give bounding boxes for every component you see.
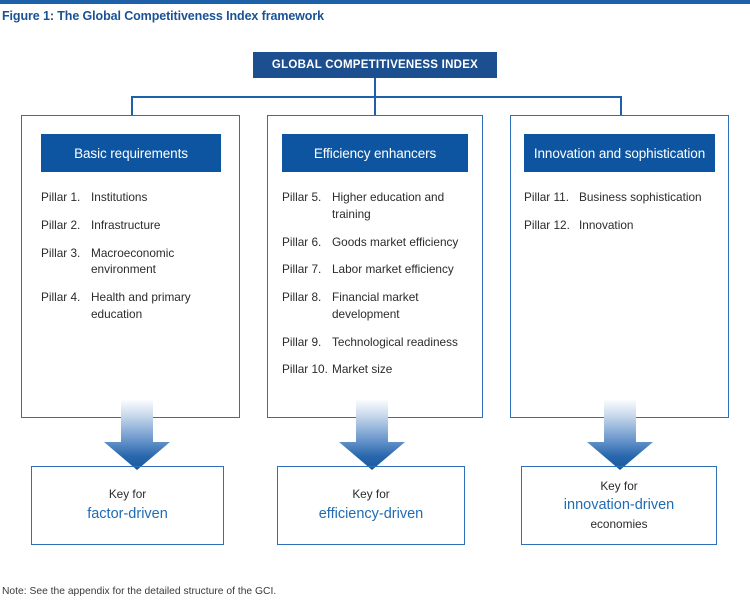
pillar-panel-basic-requirements: Basic requirements Pillar 1. Institution… — [21, 115, 240, 418]
pillar-label: Institutions — [91, 189, 231, 206]
pillar-item: Pillar 1. Institutions — [41, 189, 231, 206]
pillar-number: Pillar 2. — [41, 217, 91, 234]
key-box-efficiency-driven: Key for efficiency-driven — [277, 466, 465, 545]
figure-container: Figure 1: The Global Competitiveness Ind… — [0, 0, 750, 600]
pillar-label: Macroeconomic environment — [91, 245, 231, 279]
pillar-number: Pillar 10. — [282, 361, 332, 378]
pillar-number: Pillar 7. — [282, 261, 332, 278]
global-competitiveness-index-box: GLOBAL COMPETITIVENESS INDEX — [253, 52, 497, 78]
pillar-label: Market size — [332, 361, 474, 378]
pillar-number: Pillar 12. — [524, 217, 579, 234]
panel-header-efficiency-enhancers: Efficiency enhancers — [282, 134, 468, 172]
pillar-number: Pillar 1. — [41, 189, 91, 206]
key-box-innovation-driven: Key for innovation-driven economies — [521, 466, 717, 545]
down-arrow-icon — [101, 400, 173, 472]
pillar-number: Pillar 11. — [524, 189, 579, 206]
pillar-item: Pillar 11. Business sophistication — [524, 189, 720, 206]
connector-horizontal-bar — [131, 96, 622, 98]
key-line-driver: factor-driven — [87, 504, 168, 525]
top-rule-divider — [0, 0, 750, 4]
panel-header-basic-requirements: Basic requirements — [41, 134, 221, 172]
panel-header-label: Efficiency enhancers — [314, 146, 436, 161]
key-line-suffix: economies — [590, 516, 647, 533]
pillar-list-efficiency-enhancers: Pillar 5. Higher education and training … — [282, 189, 474, 389]
key-line-prefix: Key for — [600, 478, 637, 496]
key-line-prefix: Key for — [109, 486, 146, 504]
pillar-label: Higher education and training — [332, 189, 474, 223]
pillar-number: Pillar 8. — [282, 289, 332, 306]
pillar-label: Infrastructure — [91, 217, 231, 234]
panel-header-innovation-and-sophistication: Innovation and sophistication — [524, 134, 715, 172]
pillar-list-basic-requirements: Pillar 1. Institutions Pillar 2. Infrast… — [41, 189, 231, 334]
connector-vertical-master — [374, 78, 376, 98]
key-line-prefix: Key for — [352, 486, 389, 504]
pillar-list-innovation-and-sophistication: Pillar 11. Business sophistication Pilla… — [524, 189, 720, 245]
pillar-label: Labor market efficiency — [332, 261, 474, 278]
figure-note: Note: See the appendix for the detailed … — [2, 586, 276, 597]
pillar-label: Innovation — [579, 217, 720, 234]
pillar-item: Pillar 7. Labor market efficiency — [282, 261, 474, 278]
pillar-label: Financial market development — [332, 289, 474, 323]
figure-title: Figure 1: The Global Competitiveness Ind… — [2, 9, 324, 23]
pillar-label: Technological readiness — [332, 334, 474, 351]
global-competitiveness-index-label: GLOBAL COMPETITIVENESS INDEX — [272, 59, 478, 71]
pillar-item: Pillar 3. Macroeconomic environment — [41, 245, 231, 279]
pillar-item: Pillar 6. Goods market efficiency — [282, 234, 474, 251]
pillar-panel-efficiency-enhancers: Efficiency enhancers Pillar 5. Higher ed… — [267, 115, 483, 418]
pillar-number: Pillar 4. — [41, 289, 91, 306]
pillar-number: Pillar 9. — [282, 334, 332, 351]
pillar-item: Pillar 8. Financial market development — [282, 289, 474, 323]
connector-vertical-center — [374, 96, 376, 116]
pillar-item: Pillar 10. Market size — [282, 361, 474, 378]
pillar-item: Pillar 12. Innovation — [524, 217, 720, 234]
pillar-number: Pillar 3. — [41, 245, 91, 262]
panel-header-label: Basic requirements — [74, 146, 188, 161]
pillar-label: Business sophistication — [579, 189, 720, 206]
pillar-number: Pillar 6. — [282, 234, 332, 251]
key-line-driver: efficiency-driven — [319, 504, 424, 525]
pillar-item: Pillar 9. Technological readiness — [282, 334, 474, 351]
pillar-label: Goods market efficiency — [332, 234, 474, 251]
pillar-item: Pillar 4. Health and primary education — [41, 289, 231, 323]
key-line-driver: innovation-driven — [564, 495, 674, 516]
panel-header-label: Innovation and sophistication — [534, 146, 705, 161]
pillar-label: Health and primary education — [91, 289, 231, 323]
connector-vertical-left — [131, 96, 133, 116]
down-arrow-icon — [336, 400, 408, 472]
pillar-item: Pillar 5. Higher education and training — [282, 189, 474, 223]
down-arrow-icon — [584, 400, 656, 472]
pillar-item: Pillar 2. Infrastructure — [41, 217, 231, 234]
key-box-factor-driven: Key for factor-driven — [31, 466, 224, 545]
pillar-number: Pillar 5. — [282, 189, 332, 206]
pillar-panel-innovation-and-sophistication: Innovation and sophistication Pillar 11.… — [510, 115, 729, 418]
connector-vertical-right — [620, 96, 622, 116]
